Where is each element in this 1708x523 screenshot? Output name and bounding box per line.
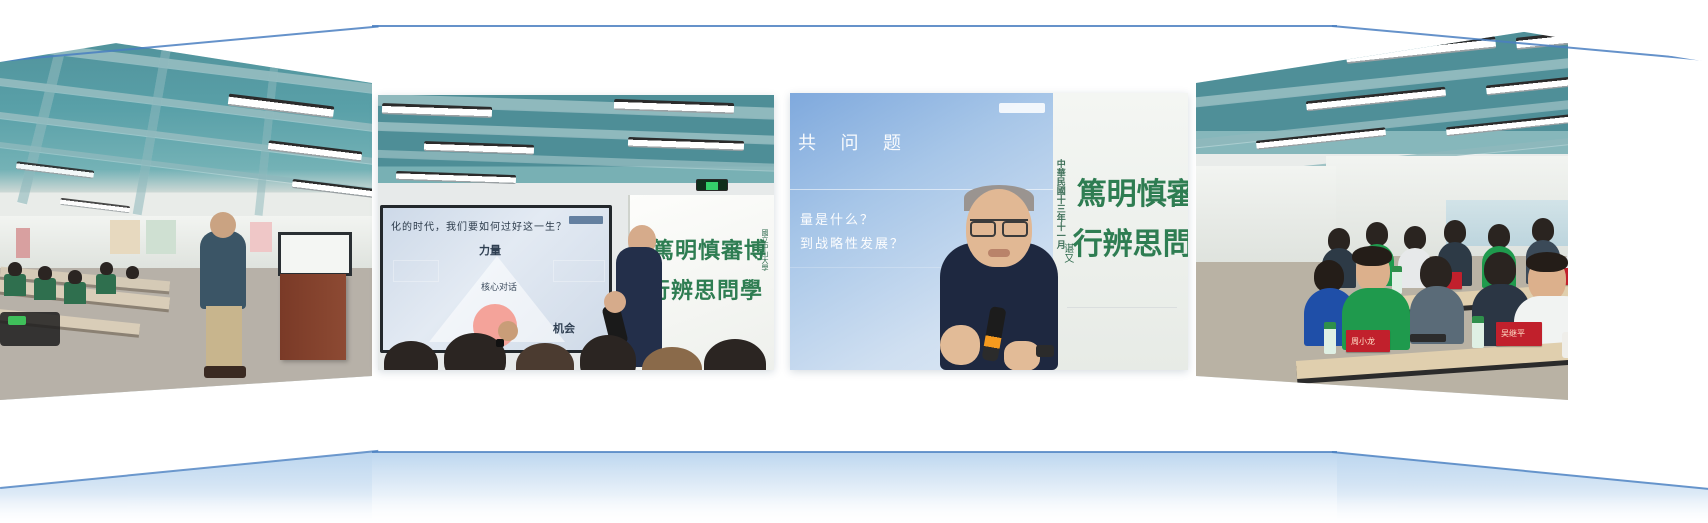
paper-cup bbox=[1562, 332, 1592, 358]
slide-node-center: 核心对话 bbox=[481, 280, 517, 293]
carousel-slide-right[interactable]: 中山大学 深圳 bbox=[1196, 16, 1708, 400]
name-plate-label: 周小龙 bbox=[1351, 336, 1375, 347]
wristwatch-icon bbox=[1036, 345, 1054, 357]
speaker-mouth bbox=[988, 249, 1010, 257]
photo-speaker-closeup: 共 问 题 量是什么？ 到战略性发展？ 篤明慎審博 行辨思問學 中華民國十三年十… bbox=[790, 93, 1188, 370]
speaker-hand bbox=[940, 325, 980, 365]
speaker-hand bbox=[604, 291, 626, 313]
banner-subtext: 深圳 bbox=[1592, 178, 1608, 189]
university-seal-icon bbox=[1594, 128, 1607, 141]
calligraphy-line-2: 行辨思問學 bbox=[648, 273, 763, 305]
name-plate-label: 吴继平 bbox=[1501, 328, 1525, 339]
calligraphy-line-1: 篤明慎審博 bbox=[652, 233, 767, 265]
slide-question-2: 到战略性发展？ bbox=[800, 233, 905, 252]
carousel-slide-center-right[interactable]: 共 问 题 量是什么？ 到战略性发展？ 篤明慎審博 行辨思問學 中華民國十三年十… bbox=[790, 93, 1188, 370]
speaker-hand-2 bbox=[1004, 341, 1040, 370]
whiteboard-calligraphy: 篤明慎審博 行辨思問學 中華民國十三年十一月 谌又 bbox=[1053, 93, 1188, 370]
carousel-floor-gradient bbox=[0, 452, 1708, 523]
name-plate bbox=[1650, 336, 1698, 360]
frame-line-top-center bbox=[372, 25, 1337, 27]
banner-text: 中山大学 bbox=[1592, 144, 1632, 155]
carousel-slide-center-left[interactable]: 化的时代，我们要如何过好这一生？ 力量 核心对话 机会 篤明慎審博 行辨思問學 … bbox=[378, 95, 774, 370]
photo-audience: 中山大学 深圳 bbox=[1196, 16, 1708, 400]
slide-logo-icon bbox=[569, 216, 603, 224]
slide-title: 共 问 题 bbox=[798, 129, 911, 155]
university-banner: 中山大学 深圳 bbox=[1588, 122, 1646, 196]
photo-carousel[interactable]: 化的时代，我们要如何过好这一生？ 力量 核心对话 机会 篤明慎審博 行辨思問學 … bbox=[0, 0, 1708, 523]
projection-screen: 化的时代，我们要如何过好这一生？ 力量 核心对话 机会 bbox=[380, 205, 612, 353]
glasses-icon bbox=[970, 219, 1028, 231]
name-plate-label: 孙 bbox=[1656, 342, 1664, 353]
slide-headline: 化的时代，我们要如何过好这一生？ bbox=[391, 218, 567, 233]
calligraphy-side-text: 中華民國十三年十一月 bbox=[1055, 159, 1068, 249]
photo-classroom-wide bbox=[0, 16, 372, 400]
pen-icon bbox=[1410, 334, 1446, 342]
exit-sign-icon bbox=[696, 179, 728, 191]
slide-question-1: 量是什么？ bbox=[800, 209, 875, 228]
carousel-slide-left[interactable] bbox=[0, 16, 372, 400]
calligraphy-line-1: 篤明慎審博 bbox=[1077, 169, 1188, 213]
slide-node-bottom-right: 机会 bbox=[553, 320, 575, 336]
slide-logo-icon bbox=[999, 103, 1045, 113]
calligraphy-line-2: 行辨思問學 bbox=[1073, 219, 1188, 263]
photo-lecture-with-slide: 化的时代，我们要如何过好这一生？ 力量 核心对话 机会 篤明慎審博 行辨思問學 … bbox=[378, 95, 774, 370]
